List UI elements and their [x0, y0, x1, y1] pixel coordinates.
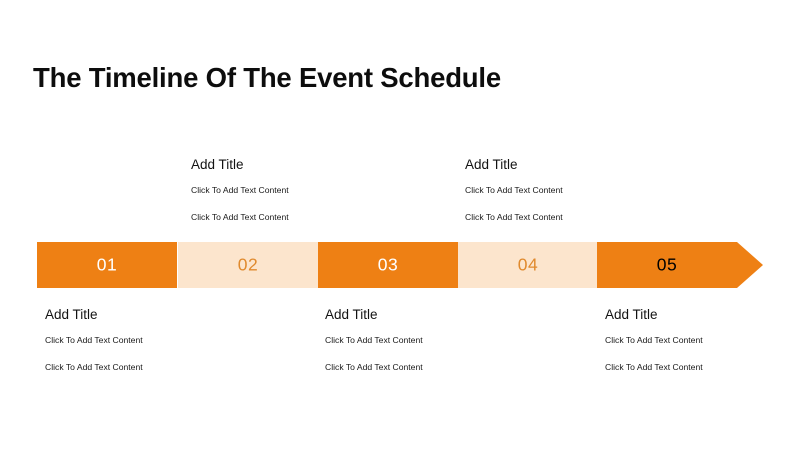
block-line[interactable]: Click To Add Text Content — [605, 335, 795, 345]
block-line[interactable]: Click To Add Text Content — [191, 212, 381, 222]
block-line[interactable]: Click To Add Text Content — [465, 212, 655, 222]
segment-number: 05 — [657, 256, 677, 274]
block-line[interactable]: Click To Add Text Content — [325, 362, 515, 372]
block-line[interactable]: Click To Add Text Content — [605, 362, 795, 372]
timeline-segment-04[interactable]: 04 — [458, 242, 598, 288]
timeline-text-block-bottom-3[interactable]: Add Title Click To Add Text Content Clic… — [605, 307, 795, 372]
block-title[interactable]: Add Title — [325, 307, 515, 323]
block-line[interactable]: Click To Add Text Content — [465, 185, 655, 195]
block-line[interactable]: Click To Add Text Content — [325, 335, 515, 345]
block-line[interactable]: Click To Add Text Content — [45, 362, 235, 372]
slide-canvas: The Timeline Of The Event Schedule Add T… — [0, 0, 799, 450]
timeline-segment-05[interactable]: 05 — [597, 242, 763, 288]
timeline-segment-01[interactable]: 01 — [37, 242, 177, 288]
page-title: The Timeline Of The Event Schedule — [33, 63, 501, 93]
timeline-text-block-bottom-1[interactable]: Add Title Click To Add Text Content Clic… — [45, 307, 235, 372]
timeline-segment-03[interactable]: 03 — [318, 242, 458, 288]
segment-number: 02 — [238, 256, 258, 274]
segment-number: 03 — [378, 256, 398, 274]
timeline-segment-02[interactable]: 02 — [178, 242, 318, 288]
block-title[interactable]: Add Title — [465, 157, 655, 173]
block-title[interactable]: Add Title — [605, 307, 795, 323]
segment-number: 01 — [97, 256, 117, 274]
timeline-text-block-top-1[interactable]: Add Title Click To Add Text Content Clic… — [191, 157, 381, 222]
arrow-right-icon — [597, 242, 763, 288]
block-line[interactable]: Click To Add Text Content — [191, 185, 381, 195]
timeline-text-block-bottom-2[interactable]: Add Title Click To Add Text Content Clic… — [325, 307, 515, 372]
block-title[interactable]: Add Title — [191, 157, 381, 173]
segment-number: 04 — [518, 256, 538, 274]
timeline-bar: 01 02 03 04 05 — [37, 242, 763, 288]
timeline-text-block-top-2[interactable]: Add Title Click To Add Text Content Clic… — [465, 157, 655, 222]
block-title[interactable]: Add Title — [45, 307, 235, 323]
block-line[interactable]: Click To Add Text Content — [45, 335, 235, 345]
